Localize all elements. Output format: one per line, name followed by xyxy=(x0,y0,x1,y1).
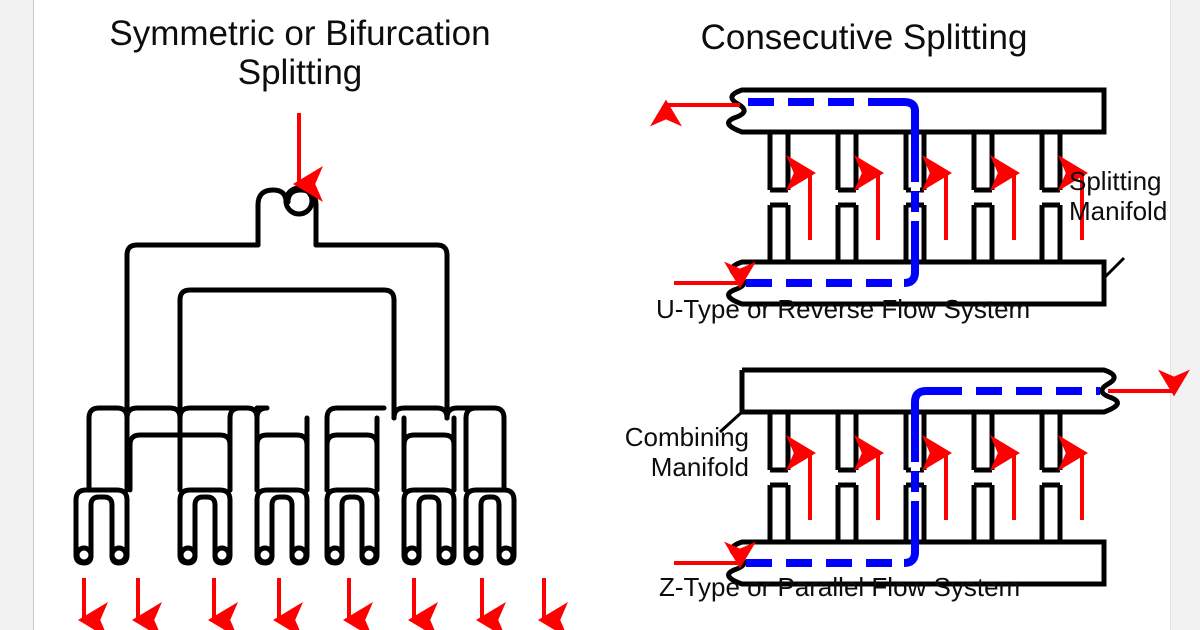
combining-manifold-label: Combining Manifold xyxy=(569,423,749,482)
splitting-manifold-label: Splitting Manifold xyxy=(1069,167,1167,226)
splitting-manifold-leader xyxy=(1104,258,1124,278)
diagram-canvas: Symmetric or Bifurcation Splitting xyxy=(34,0,1170,630)
right-panel-title: Consecutive Splitting xyxy=(654,18,1074,57)
bifurcation-tree-figure xyxy=(34,0,594,630)
diagram-page: Symmetric or Bifurcation Splitting xyxy=(0,0,1200,630)
tree-outlet-arrows xyxy=(84,578,544,620)
z-type-walls xyxy=(729,370,1118,584)
tree-channel-walls xyxy=(76,188,514,563)
left-margin-strip xyxy=(0,0,34,630)
u-type-caption: U-Type or Reverse Flow System xyxy=(656,294,1030,325)
z-type-caption: Z-Type or Parallel Flow System xyxy=(659,572,1020,603)
